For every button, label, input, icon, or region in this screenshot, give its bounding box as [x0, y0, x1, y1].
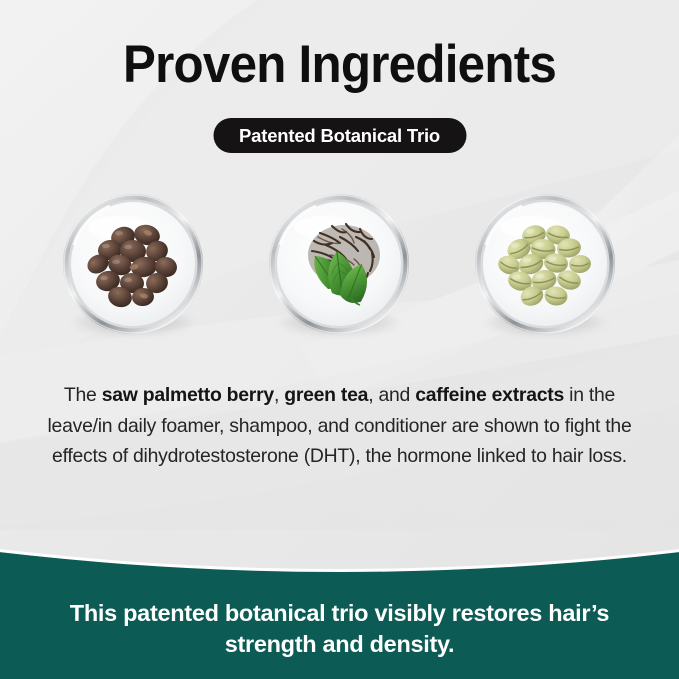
ingredient-dish-green-tea — [268, 193, 410, 335]
ingredient-dish-row — [0, 193, 679, 343]
highlight-green-tea: green tea — [284, 384, 368, 406]
badge-patented-botanical-trio: Patented Botanical Trio — [213, 118, 466, 153]
body-paragraph: The saw palmetto berry, green tea, and c… — [40, 380, 639, 472]
highlight-saw-palmetto: saw palmetto berry — [102, 384, 274, 406]
body-sep-2: , and — [368, 384, 415, 406]
footer-headline: This patented botanical trio visibly res… — [45, 598, 634, 660]
page-title: Proven Ingredients — [24, 36, 655, 94]
ingredients-infographic: Proven Ingredients Patented Botanical Tr… — [0, 0, 679, 679]
body-text-pre: The — [64, 384, 102, 406]
footer-banner: This patented botanical trio visibly res… — [0, 528, 679, 679]
ingredient-dish-green-coffee — [474, 193, 616, 335]
body-sep-1: , — [274, 384, 284, 406]
highlight-caffeine: caffeine extracts — [415, 384, 564, 406]
ingredient-dish-saw-palmetto — [62, 193, 204, 335]
